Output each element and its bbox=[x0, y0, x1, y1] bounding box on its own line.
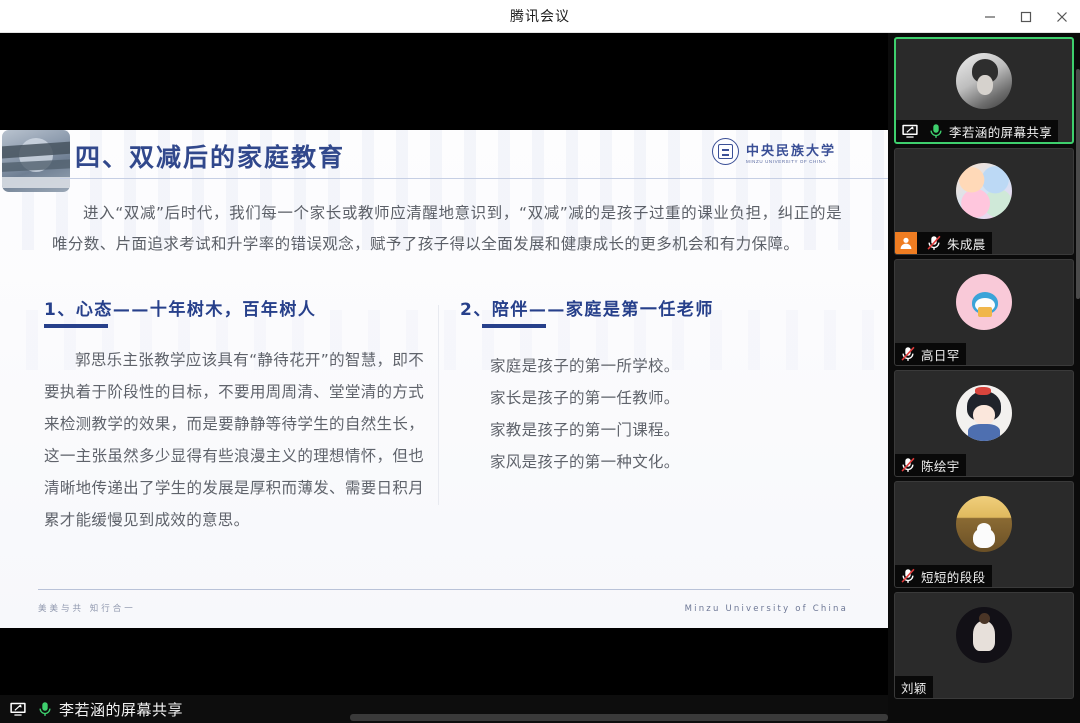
column-heading-2: 2、陪伴——家庭是第一任老师 bbox=[460, 295, 860, 320]
participant-tile[interactable]: 短短的段段 bbox=[894, 481, 1074, 588]
avatar bbox=[956, 496, 1012, 552]
slide-column-left: 1、心态——十年树木，百年树人 郭思乐主张教学应该具有“静待花开”的智慧，即不要… bbox=[44, 295, 424, 536]
microphone-muted-icon bbox=[899, 345, 917, 363]
participant-tile[interactable]: 李若涵的屏幕共享 bbox=[894, 37, 1074, 144]
window-titlebar: 腾讯会议 bbox=[0, 0, 1080, 33]
participant-name: 高日罕 bbox=[921, 345, 960, 364]
avatar bbox=[956, 607, 1012, 663]
university-name-cn: 中央民族大学 bbox=[746, 140, 836, 159]
university-name-en: MINZU UNIVERSITY OF CHINA bbox=[746, 159, 836, 164]
participant-rail[interactable]: 李若涵的屏幕共享 朱成晨 bbox=[888, 33, 1080, 723]
participant-tile[interactable]: 陈绘宇 bbox=[894, 370, 1074, 477]
slide-footer-university: Minzu University of China bbox=[685, 604, 848, 614]
microphone-muted-icon bbox=[899, 456, 917, 474]
participant-name: 朱成晨 bbox=[947, 234, 986, 253]
participant-tile[interactable]: 高日罕 bbox=[894, 259, 1074, 366]
screen-share-bar: 李若涵的屏幕共享 bbox=[0, 695, 888, 723]
campus-building-image bbox=[2, 130, 70, 192]
participant-label: 刘颖 bbox=[895, 676, 933, 698]
participant-label: 李若涵的屏幕共享 bbox=[896, 120, 1058, 142]
microphone-muted-icon bbox=[925, 234, 943, 252]
screen-share-icon bbox=[9, 700, 27, 718]
column-divider bbox=[438, 305, 439, 505]
avatar bbox=[956, 385, 1012, 441]
participant-tile[interactable]: 朱成晨 bbox=[894, 148, 1074, 255]
column-heading-2-underline bbox=[482, 324, 546, 328]
slide-paragraph: 进入“双减”后时代，我们每一个家长或教师应清醒地意识到，“双减”减的是孩子过重的… bbox=[52, 198, 842, 260]
title-divider bbox=[60, 178, 888, 179]
maximize-icon[interactable] bbox=[1008, 0, 1044, 33]
window-controls bbox=[972, 0, 1080, 33]
list-item: 家教是孩子的第一门课程。 bbox=[490, 414, 860, 446]
column-list-2: 家庭是孩子的第一所学校。 家长是孩子的第一任教师。 家教是孩子的第一门课程。 家… bbox=[460, 350, 860, 478]
avatar bbox=[956, 163, 1012, 219]
slide-column-right: 2、陪伴——家庭是第一任老师 家庭是孩子的第一所学校。 家长是孩子的第一任教师。… bbox=[460, 295, 860, 478]
column-heading-1: 1、心态——十年树木，百年树人 bbox=[44, 295, 424, 320]
minimize-icon[interactable] bbox=[972, 0, 1008, 33]
screen-share-label: 李若涵的屏幕共享 bbox=[59, 699, 183, 720]
participant-label: 陈绘宇 bbox=[895, 454, 966, 476]
list-item: 家风是孩子的第一种文化。 bbox=[490, 446, 860, 478]
participant-name: 短短的段段 bbox=[921, 567, 986, 586]
list-item: 家庭是孩子的第一所学校。 bbox=[490, 350, 860, 382]
participant-name: 陈绘宇 bbox=[921, 456, 960, 475]
participant-tile[interactable]: 刘颖 bbox=[894, 592, 1074, 699]
footer-divider bbox=[38, 589, 850, 590]
presentation-slide: 四、双减后的家庭教育 中央民族大学 MINZU UNIVERSITY OF CH… bbox=[0, 130, 888, 628]
university-logo: 中央民族大学 MINZU UNIVERSITY OF CHINA bbox=[712, 138, 836, 165]
participant-label: 高日罕 bbox=[895, 343, 966, 365]
close-icon[interactable] bbox=[1044, 0, 1080, 33]
column-heading-1-underline bbox=[44, 324, 108, 328]
slide-footer-motto: 美美与共 知行合一 bbox=[38, 602, 136, 614]
avatar bbox=[956, 53, 1012, 109]
screen-share-icon bbox=[901, 122, 919, 140]
participant-label: 朱成晨 bbox=[895, 232, 992, 254]
list-item: 家长是孩子的第一任教师。 bbox=[490, 382, 860, 414]
participant-name: 李若涵的屏幕共享 bbox=[949, 122, 1052, 141]
university-seal-icon bbox=[712, 138, 739, 165]
participant-rail-scrollbar[interactable] bbox=[1076, 69, 1080, 299]
participant-name: 刘颖 bbox=[901, 678, 927, 697]
stage-scrollbar[interactable] bbox=[350, 714, 888, 721]
microphone-muted-icon bbox=[899, 567, 917, 585]
microphone-icon bbox=[927, 122, 945, 140]
participant-label: 短短的段段 bbox=[895, 565, 992, 587]
column-body-1: 郭思乐主张教学应该具有“静待花开”的智慧，即不要执着于阶段性的目标，不要用周周清… bbox=[44, 344, 424, 536]
microphone-icon bbox=[36, 700, 54, 718]
window-title: 腾讯会议 bbox=[510, 6, 570, 26]
host-badge-icon bbox=[895, 232, 917, 254]
avatar bbox=[956, 274, 1012, 330]
shared-screen-stage[interactable]: 四、双减后的家庭教育 中央民族大学 MINZU UNIVERSITY OF CH… bbox=[0, 33, 888, 723]
slide-title: 四、双减后的家庭教育 bbox=[75, 138, 345, 174]
